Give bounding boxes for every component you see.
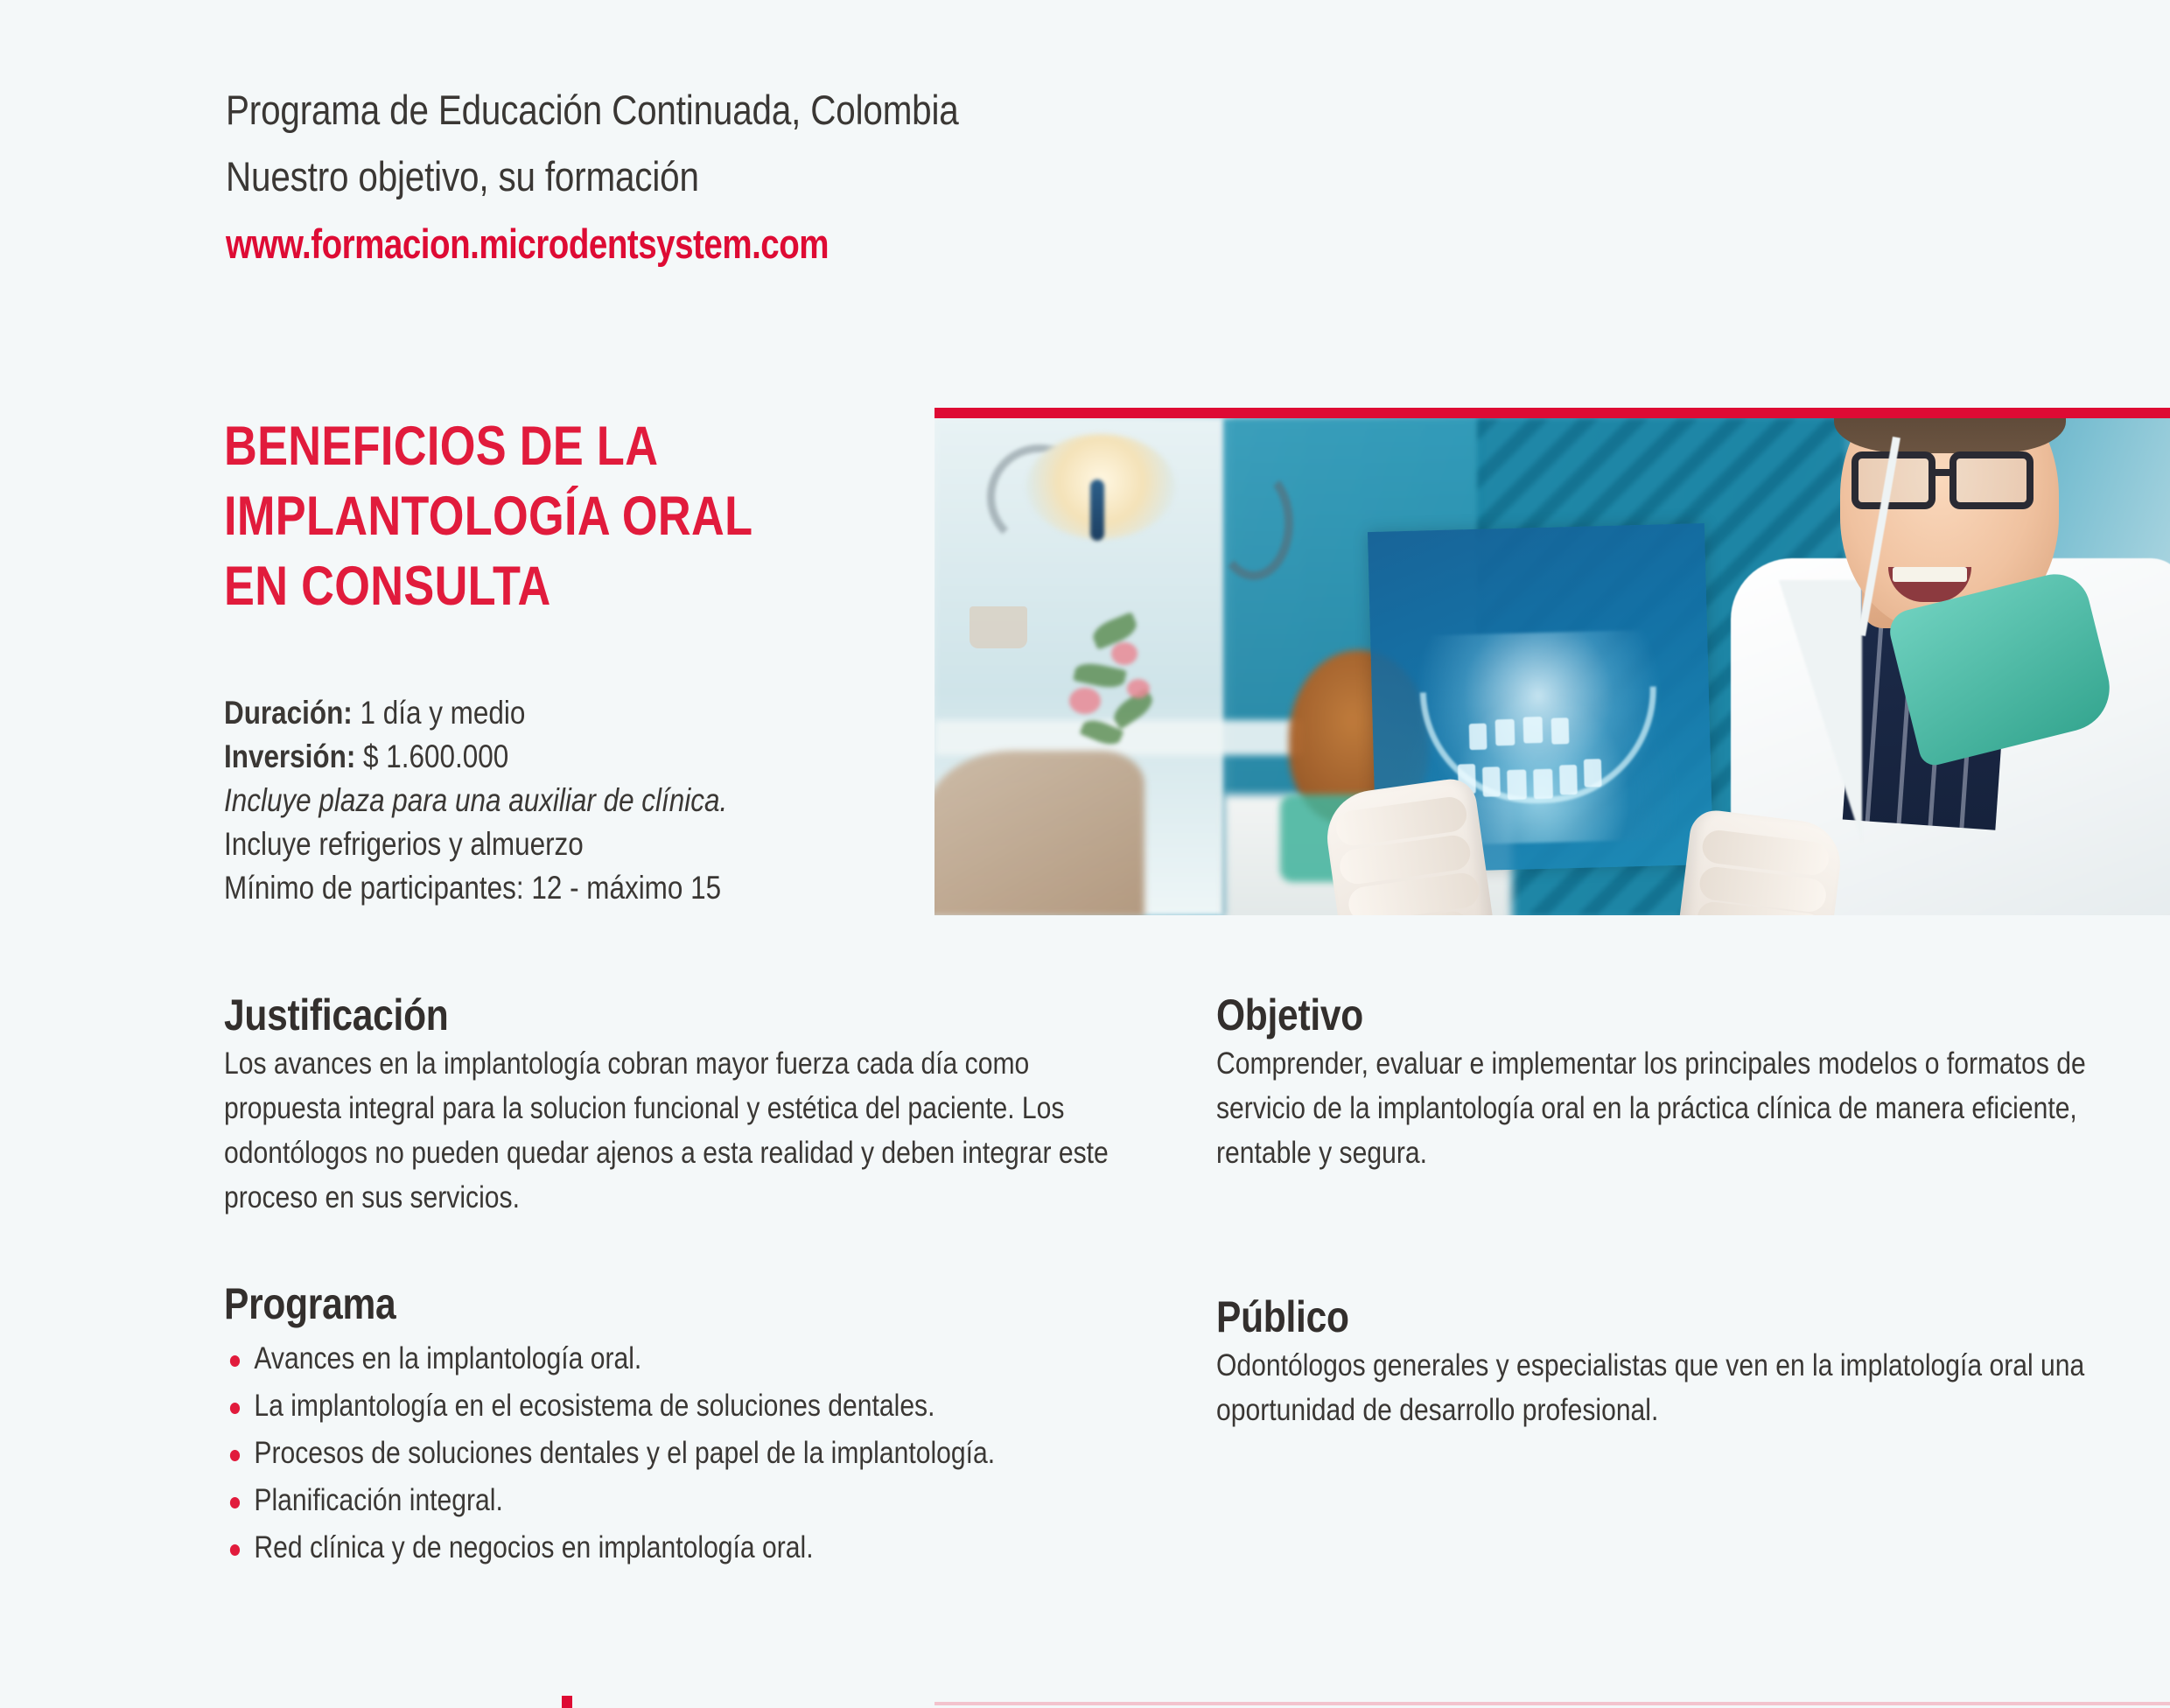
dental-chair (934, 751, 1144, 915)
detail-meals: Incluye refrigerios y almuerzo (224, 822, 789, 866)
detail-duration-label: Duración: (224, 695, 353, 731)
content-column-right: Objetivo Comprender, evaluar e implement… (1216, 989, 2109, 1432)
programa-list: Avances en la implantología oral. La imp… (224, 1335, 1116, 1571)
column-spacer (224, 1220, 1116, 1277)
section-body-justificacion: Los avances en la implantología cobran m… (224, 1041, 1115, 1220)
list-item: Avances en la implantología oral. (224, 1335, 991, 1382)
plant-pot (969, 606, 1027, 648)
next-section-marker (562, 1696, 572, 1708)
dentist-teeth (1893, 567, 1967, 582)
detail-duration: Duración: 1 día y medio (224, 691, 789, 735)
dentist-xray-photo (934, 418, 2170, 915)
course-title: BENEFICIOS DE LA IMPLANTOLOGÍA ORAL EN C… (224, 411, 889, 621)
column-spacer (1216, 1175, 2109, 1291)
detail-investment-value: $ 1.600.000 (355, 738, 508, 774)
course-title-line-2: IMPLANTOLOGÍA ORAL (224, 481, 776, 551)
header-website-url[interactable]: www.formacion.microdentsystem.com (226, 210, 925, 278)
section-heading-objetivo: Objetivo (1216, 989, 1975, 1041)
content-column-left: Justificación Los avances en la implanto… (224, 989, 1116, 1571)
header-line-program: Programa de Educación Continuada, Colomb… (226, 77, 959, 143)
detail-note: Incluye plaza para una auxiliar de clíni… (224, 779, 789, 822)
dental-lamp-stem (1090, 479, 1104, 541)
section-heading-programa: Programa (224, 1277, 983, 1330)
list-item: La implantología en el ecosistema de sol… (224, 1382, 991, 1430)
photo-top-red-rule (934, 408, 2170, 418)
page-header: Programa de Educación Continuada, Colomb… (226, 77, 1078, 278)
lab-coat-lapel (1779, 580, 1862, 843)
detail-investment-label: Inversión: (224, 738, 355, 774)
course-title-line-3: EN CONSULTA (224, 551, 776, 621)
course-photo (934, 408, 2170, 915)
detail-investment: Inversión: $ 1.600.000 (224, 735, 789, 779)
section-body-publico: Odontólogos generales y especialistas qu… (1216, 1343, 2107, 1432)
list-item: Red clínica y de negocios en implantolog… (224, 1524, 991, 1571)
list-item: Planificación integral. (224, 1477, 991, 1524)
section-heading-justificacion: Justificación (224, 989, 983, 1041)
detail-duration-value: 1 día y medio (353, 695, 526, 731)
next-section-rule (934, 1702, 2170, 1705)
list-item: Procesos de soluciones dentales y el pap… (224, 1430, 991, 1477)
header-line-tagline: Nuestro objetivo, su formación (226, 143, 959, 210)
course-title-line-1: BENEFICIOS DE LA (224, 411, 776, 481)
detail-participants: Mínimo de participantes: 12 - máximo 15 (224, 866, 789, 910)
section-heading-publico: Público (1216, 1291, 1975, 1343)
course-details: Duración: 1 día y medio Inversión: $ 1.6… (224, 691, 889, 910)
section-body-objetivo: Comprender, evaluar e implementar los pr… (1216, 1041, 2107, 1175)
dental-equipment-arm (1214, 466, 1293, 580)
eyeglasses-bridge-icon (1935, 469, 1951, 476)
eyeglasses-right-lens-icon (1949, 451, 2033, 509)
dentist-hair (1834, 418, 2066, 453)
